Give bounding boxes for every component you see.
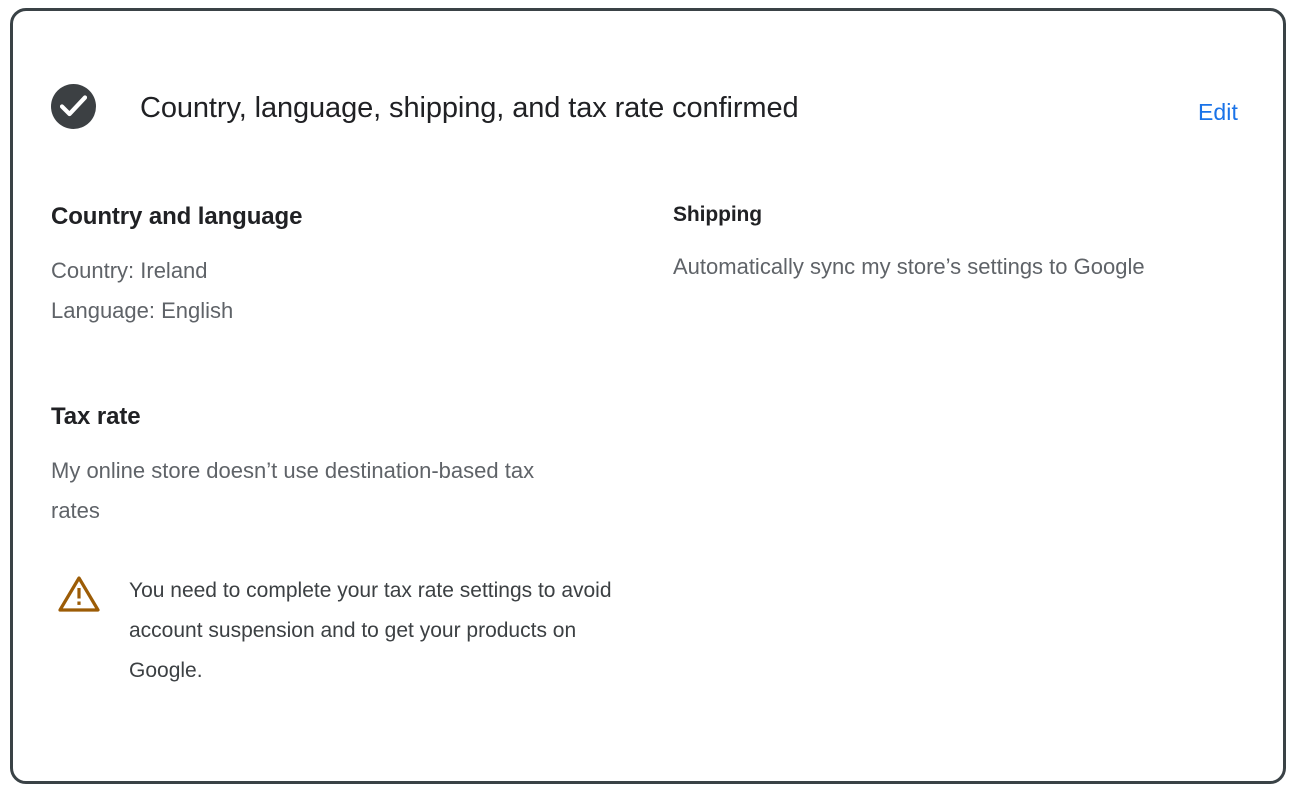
tax-rate-heading: Tax rate: [51, 401, 631, 433]
country-language-heading: Country and language: [51, 201, 631, 233]
shipping-heading: Shipping: [673, 201, 1233, 229]
section-shipping: Shipping Automatically sync my store’s s…: [673, 201, 1233, 287]
right-column: Shipping Automatically sync my store’s s…: [673, 201, 1233, 287]
tax-rate-warning: You need to complete your tax rate setti…: [51, 571, 631, 691]
warning-message: You need to complete your tax rate setti…: [129, 571, 629, 691]
card-header: Country, language, shipping, and tax rat…: [13, 11, 1283, 131]
tax-rate-value: My online store doesn’t use destination-…: [51, 451, 581, 531]
screen: Country, language, shipping, and tax rat…: [0, 0, 1296, 800]
section-country-language: Country and language Country: Ireland La…: [51, 201, 631, 331]
warning-triangle-icon: [57, 574, 101, 614]
page-title: Country, language, shipping, and tax rat…: [140, 89, 799, 127]
edit-link[interactable]: Edit: [1198, 97, 1238, 127]
check-circle-icon: [51, 84, 96, 129]
section-tax-rate: Tax rate My online store doesn’t use des…: [51, 401, 631, 691]
shipping-value: Automatically sync my store’s settings t…: [673, 247, 1208, 287]
country-value: Country: Ireland: [51, 251, 571, 291]
language-value: Language: English: [51, 291, 571, 331]
confirmation-card: Country, language, shipping, and tax rat…: [10, 8, 1286, 784]
left-column: Country and language Country: Ireland La…: [51, 201, 631, 691]
